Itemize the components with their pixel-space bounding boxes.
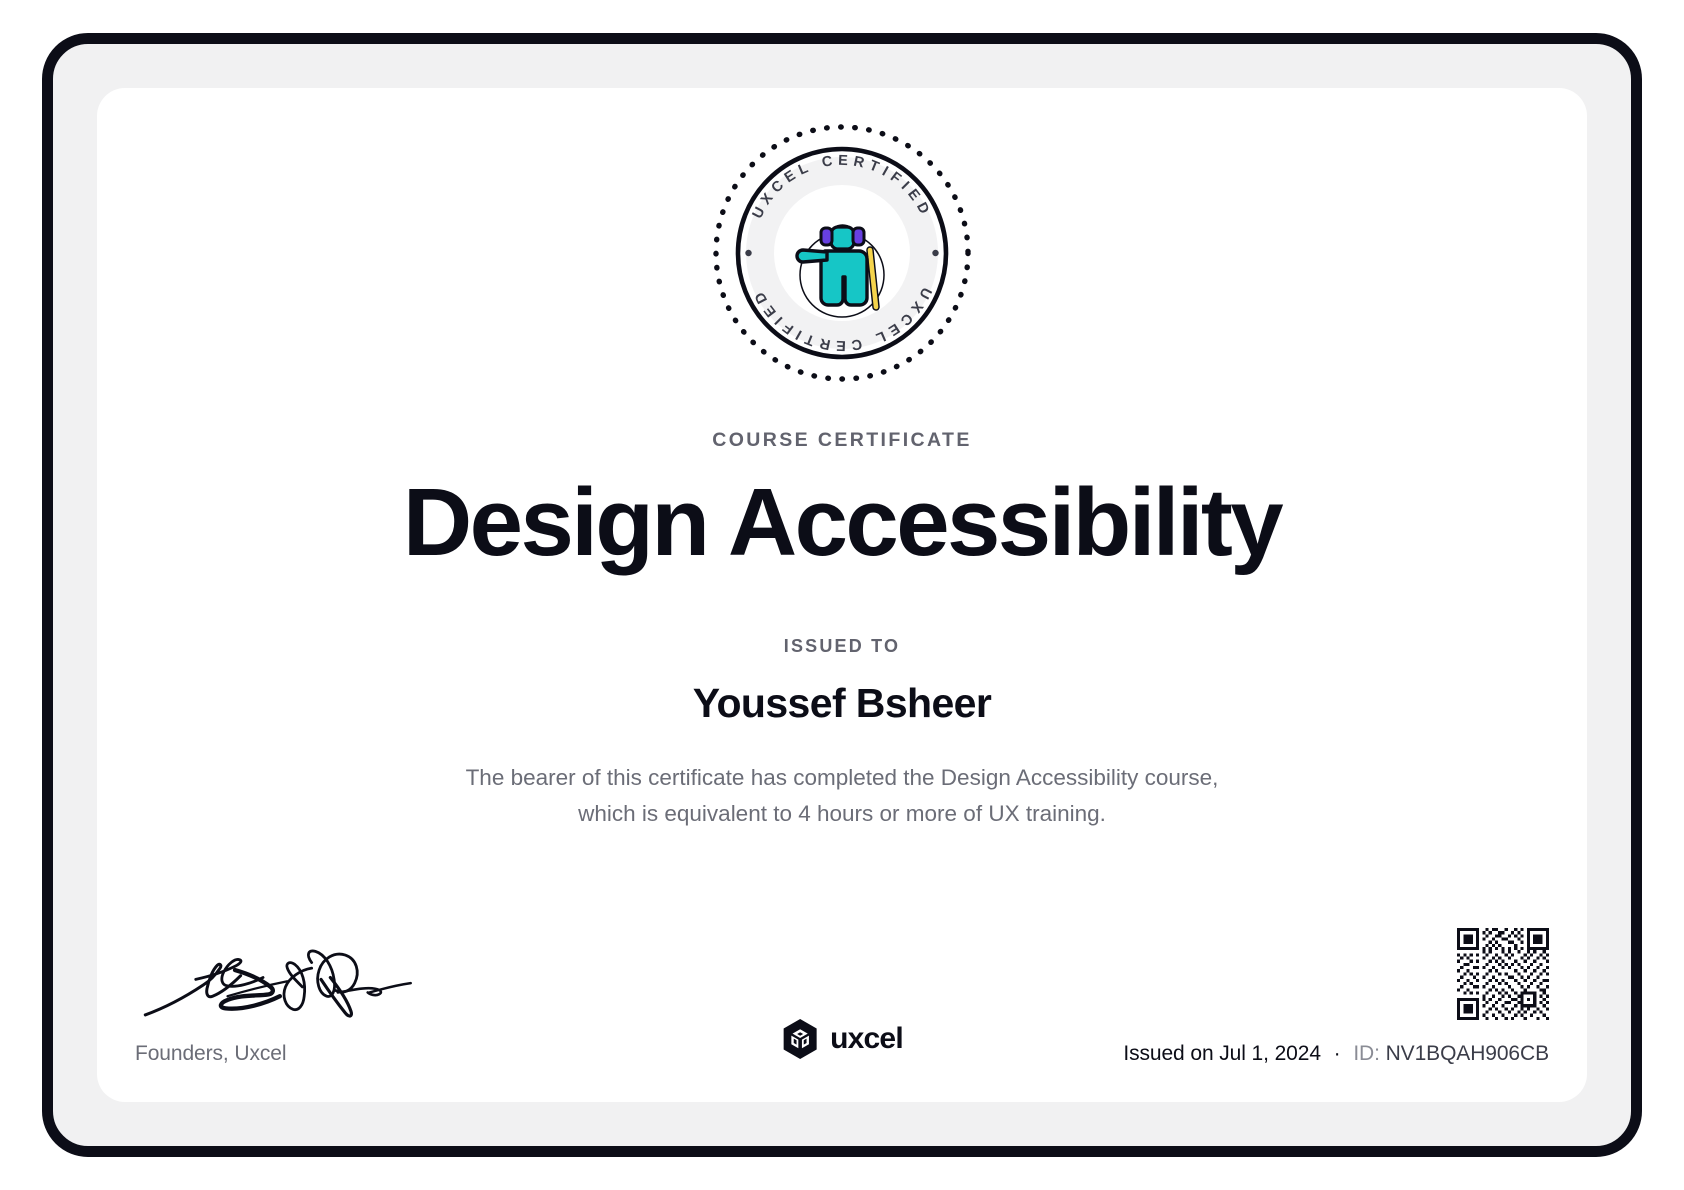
verification-qr-code[interactable]	[1457, 928, 1549, 1020]
signature-block: Founders, Uxcel	[135, 942, 555, 1066]
certificate-title: Design Accessibility	[97, 470, 1587, 576]
certificate-kicker: COURSE CERTIFICATE	[97, 429, 1587, 452]
certificate-body-line-2: which is equivalent to 4 hours or more o…	[97, 796, 1587, 832]
certificate-body: The bearer of this certificate has compl…	[97, 760, 1587, 833]
recipient-name: Youssef Bsheer	[97, 680, 1587, 727]
certificate-id-label: ID:	[1353, 1042, 1380, 1065]
issued-to-label: ISSUED TO	[97, 636, 1587, 657]
certificate-page: UXCEL CERTIFIED UXCEL CERTIFIED	[0, 0, 1684, 1190]
issued-on-text: Issued on Jul 1, 2024	[1123, 1042, 1321, 1065]
uxcel-wordmark: uxcel	[830, 1024, 903, 1054]
certificate-card: UXCEL CERTIFIED UXCEL CERTIFIED	[97, 88, 1587, 1102]
certificate-body-line-1: The bearer of this certificate has compl…	[97, 760, 1587, 796]
certificate-id-value: NV1BQAH906CB	[1386, 1042, 1549, 1065]
founders-signature-image	[135, 942, 421, 1028]
certificate-meta: Issued on Jul 1, 2024 · ID: NV1BQAH906CB	[1123, 928, 1549, 1066]
certificate-frame: UXCEL CERTIFIED UXCEL CERTIFIED	[42, 33, 1642, 1157]
issue-meta-line: Issued on Jul 1, 2024 · ID: NV1BQAH906CB	[1123, 1042, 1549, 1066]
meta-separator: ·	[1327, 1042, 1348, 1065]
certificate-footer: Founders, Uxcel	[97, 884, 1587, 1074]
uxcel-certified-seal: UXCEL CERTIFIED UXCEL CERTIFIED	[709, 120, 975, 386]
uxcel-hexagon-cube-icon	[781, 1018, 819, 1060]
uxcel-brand-logo: uxcel	[781, 1018, 903, 1060]
signature-caption: Founders, Uxcel	[135, 1042, 555, 1066]
